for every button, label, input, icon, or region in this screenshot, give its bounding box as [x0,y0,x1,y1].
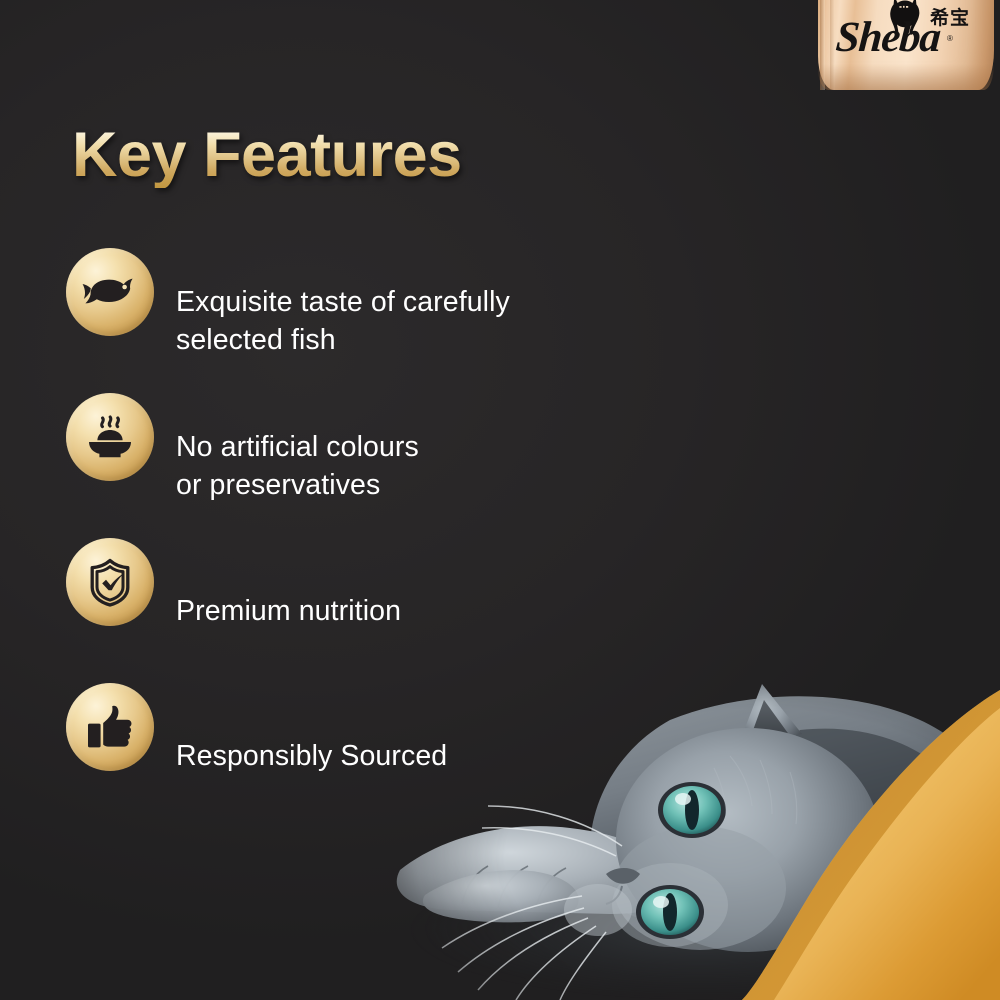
feature-item-fish: Exquisite taste of carefully selected fi… [66,248,686,393]
sheba-product-pouch: Sheba 希宝 ® [810,0,1000,90]
sheba-logo: Sheba 希宝 ® [832,0,982,70]
sheba-wordmark-cjk: 希宝 [930,9,970,28]
shield-check-icon [66,538,154,626]
sheba-wordmark: Sheba [834,16,941,59]
steaming-bowl-icon [66,393,154,481]
feature-label: Exquisite taste of carefully selected fi… [176,282,510,358]
product-feature-card: Sheba 希宝 ® Key Features Exquisite taste … [0,0,1000,1000]
registered-trademark-mark: ® [947,34,953,43]
feature-item-no-artificial: No artificial colours or preservatives [66,393,686,538]
fish-icon [66,248,154,336]
feature-label: No artificial colours or preservatives [176,427,419,503]
feature-label: Premium nutrition [176,591,401,629]
thumbs-up-icon [66,683,154,771]
cat-photo [370,660,1000,1000]
page-title: Key Features [72,122,462,188]
